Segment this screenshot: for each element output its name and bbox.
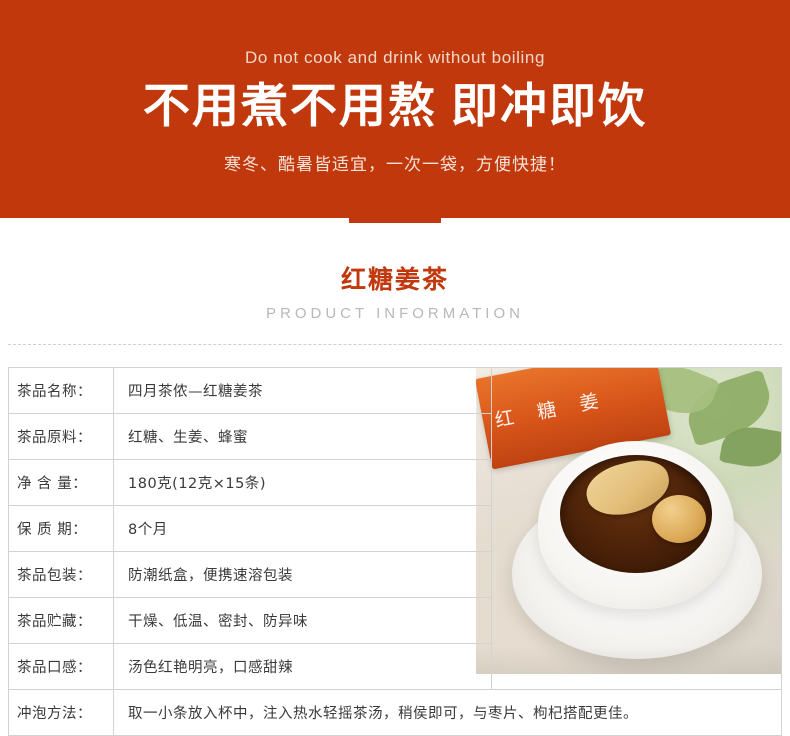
- spec-value: 干燥、低温、密封、防异味: [114, 598, 492, 644]
- spec-label: 茶品原料：: [9, 414, 114, 460]
- spec-label: 茶品名称：: [9, 368, 114, 414]
- specification-table: 茶品名称： 四月茶侬—红糖姜茶 茶品原料： 红糖、生姜、蜂蜜 净 含 量： 18…: [8, 367, 782, 736]
- spec-label: 净 含 量：: [9, 460, 114, 506]
- hero-subtitle-chinese: 寒冬、酷暑皆适宜，一次一袋，方便快捷！: [0, 134, 790, 175]
- hero-title-part1: 不用煮不用熬: [143, 79, 437, 134]
- table-row: 冲泡方法： 取一小条放入杯中，注入热水轻摇茶汤，稍侯即可，与枣片、枸杞搭配更佳。: [9, 690, 782, 736]
- spec-label: 冲泡方法：: [9, 690, 114, 736]
- hero-title: 不用煮不用熬即冲即饮: [0, 68, 790, 134]
- hero-banner: Do not cook and drink without boiling 不用…: [0, 0, 790, 218]
- product-detail-page: Do not cook and drink without boiling 不用…: [0, 0, 790, 735]
- spec-value: 防潮纸盒，便携速溶包装: [114, 552, 492, 598]
- spec-value: 汤色红艳明亮，口感甜辣: [114, 644, 492, 690]
- spec-label: 保 质 期：: [9, 506, 114, 552]
- dashed-separator: [8, 344, 782, 345]
- photo-cell: [492, 368, 782, 690]
- hero-title-part2: 即冲即饮: [451, 79, 647, 134]
- spec-value: 取一小条放入杯中，注入热水轻摇茶汤，稍侯即可，与枣片、枸杞搭配更佳。: [114, 690, 782, 736]
- spec-value: 红糖、生姜、蜂蜜: [114, 414, 492, 460]
- product-title-english: PRODUCT INFORMATION: [0, 296, 790, 322]
- spec-label: 茶品口感：: [9, 644, 114, 690]
- table-row: 茶品名称： 四月茶侬—红糖姜茶: [9, 368, 782, 414]
- spec-label: 茶品包装：: [9, 552, 114, 598]
- spec-section: 红 糖 姜 茶品名称： 四月茶侬—红糖姜茶 茶品原料： 红糖、生姜、蜂蜜: [8, 367, 782, 725]
- spec-value: 8个月: [114, 506, 492, 552]
- specification-table-body: 茶品名称： 四月茶侬—红糖姜茶 茶品原料： 红糖、生姜、蜂蜜 净 含 量： 18…: [9, 368, 782, 736]
- product-information-header: 红糖姜茶 PRODUCT INFORMATION: [0, 218, 790, 322]
- accent-divider-mark: [349, 218, 441, 223]
- hero-subtitle-english: Do not cook and drink without boiling: [0, 0, 790, 68]
- product-title-chinese: 红糖姜茶: [0, 260, 790, 296]
- spec-value: 四月茶侬—红糖姜茶: [114, 368, 492, 414]
- spec-label: 茶品贮藏：: [9, 598, 114, 644]
- spec-value: 180克(12克×15条): [114, 460, 492, 506]
